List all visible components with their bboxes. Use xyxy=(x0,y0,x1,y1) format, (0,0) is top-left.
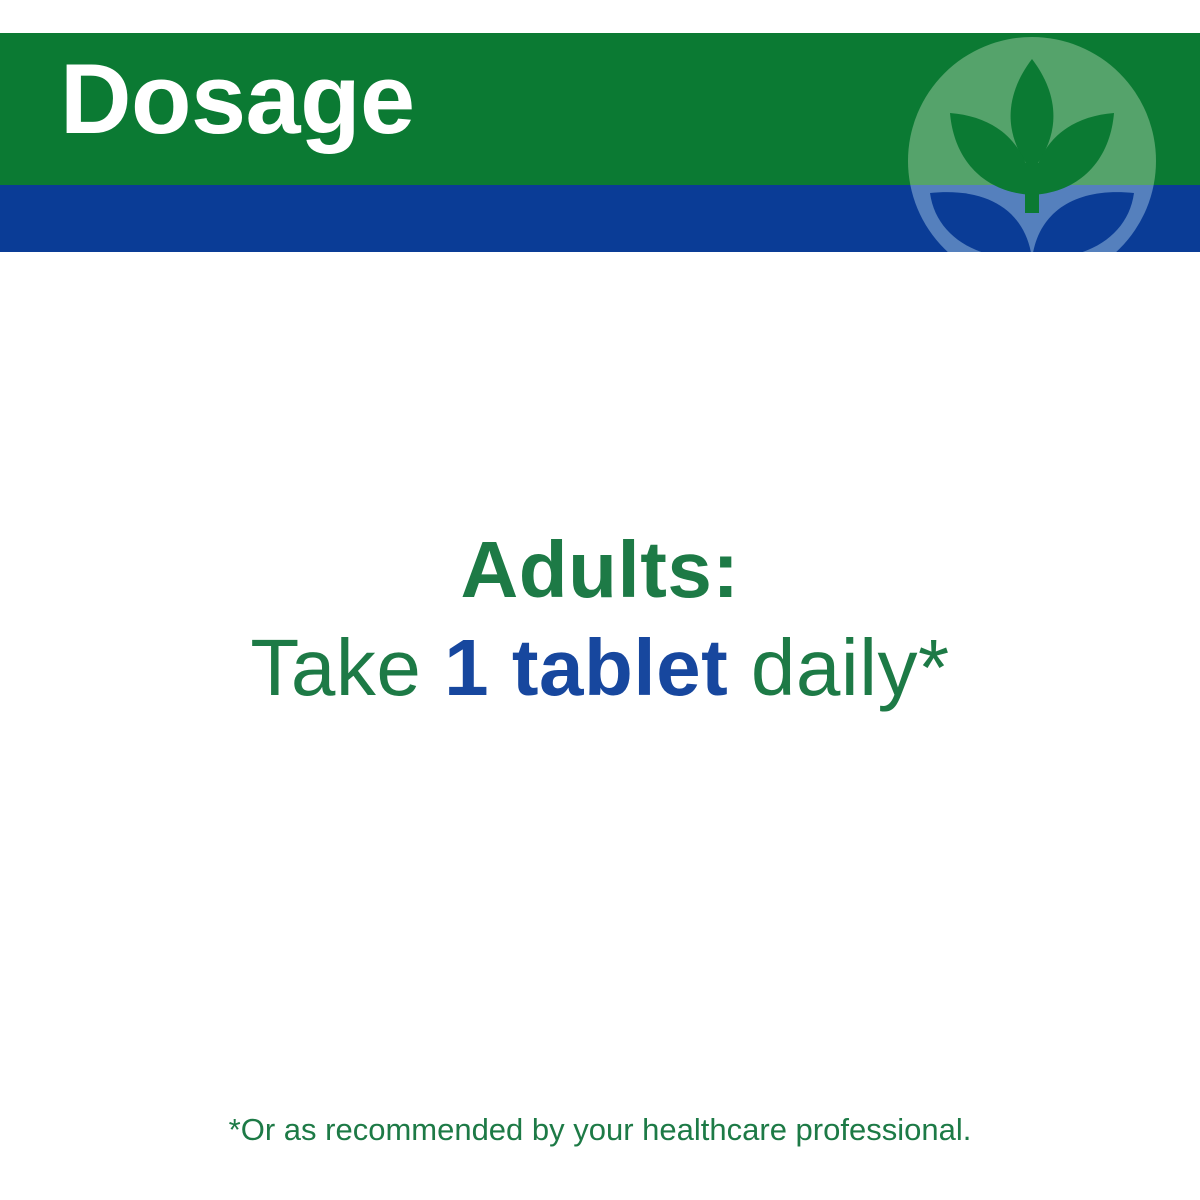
dosage-instruction-suffix: daily* xyxy=(728,623,949,712)
dosage-instruction-amount: 1 tablet xyxy=(444,623,728,712)
page-title: Dosage xyxy=(60,47,415,151)
dosage-info-card: Dosage Adults: Take 1 tablet daily* *Or … xyxy=(0,0,1200,1200)
dosage-audience-label: Adults: xyxy=(0,524,1200,616)
dosage-statement: Adults: Take 1 tablet daily* xyxy=(0,524,1200,720)
main-content: Adults: Take 1 tablet daily* xyxy=(0,252,1200,1200)
footnote-text: *Or as recommended by your healthcare pr… xyxy=(0,1112,1200,1148)
dosage-instruction: Take 1 tablet daily* xyxy=(0,616,1200,720)
dosage-instruction-prefix: Take xyxy=(250,623,444,712)
header-blue-band xyxy=(0,185,1200,252)
